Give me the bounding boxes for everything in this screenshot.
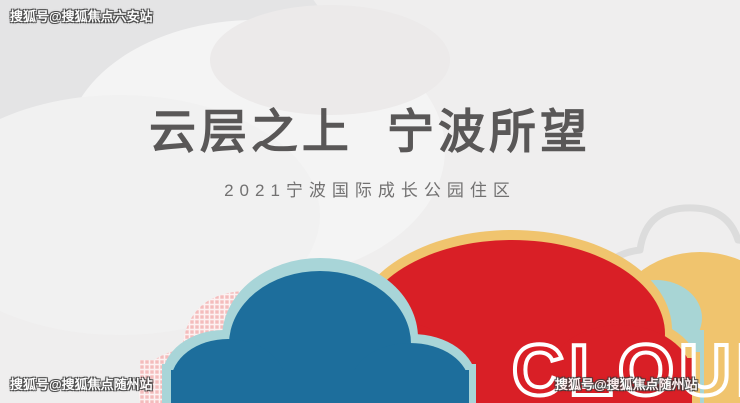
watermark-bottom-right: 搜狐号@搜狐焦点随州站: [555, 378, 698, 391]
page-subtitle: 2021宁波国际成长公园住区: [0, 182, 740, 199]
watermark-bottom-left: 搜狐号@搜狐焦点随州站: [10, 378, 153, 391]
subtitle-container: 2021宁波国际成长公园住区: [0, 182, 740, 199]
title-container: 云层之上 宁波所望: [0, 108, 740, 155]
clouds-wordmark: CLOUDS: [512, 331, 740, 403]
page-title: 云层之上 宁波所望: [0, 108, 740, 155]
watermark-top-left: 搜狐号@搜狐焦点六安站: [10, 10, 153, 23]
poster-canvas: CLOUDS 云层之上 宁波所望 2021宁波国际成长公园住区 搜狐号@搜狐焦点…: [0, 0, 740, 403]
colored-clouds-layer: CLOUDS: [0, 0, 740, 403]
